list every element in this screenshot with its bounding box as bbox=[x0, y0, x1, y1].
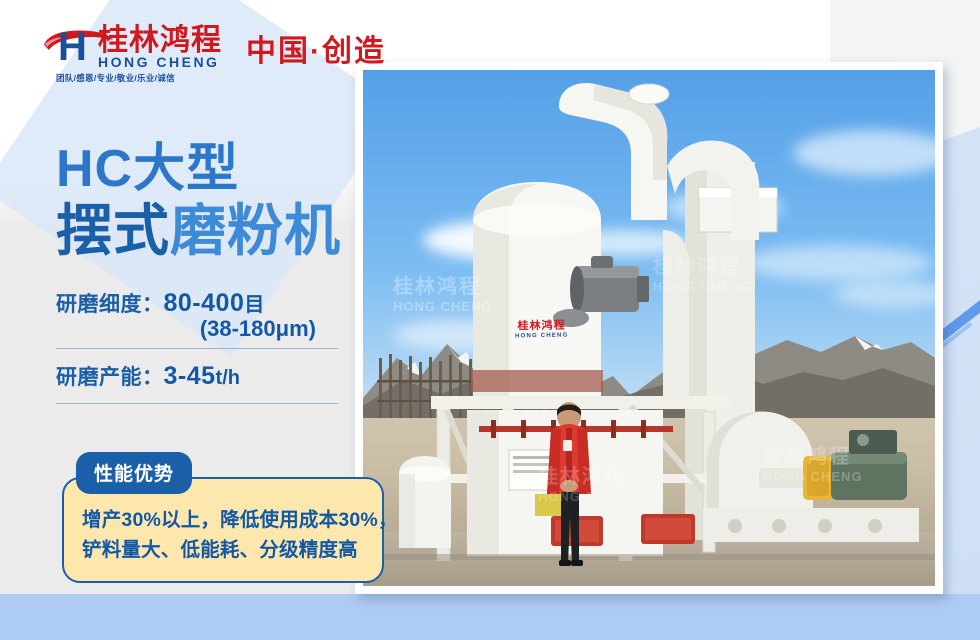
machine-brand-plate-en: HONG CHENG bbox=[515, 332, 568, 341]
spec-fineness-sub: (38-180μm) bbox=[56, 316, 338, 342]
product-photo: 桂林鸿程 HONG CHENG 桂林鸿程 HONG CHENG bbox=[363, 70, 935, 586]
headline-line-2: 摆式磨粉机 bbox=[56, 198, 400, 264]
product-photo-frame: 桂林鸿程 HONG CHENG 桂林鸿程 HONG CHENG bbox=[355, 62, 943, 594]
headline-line-2-part-1: 摆式 bbox=[56, 199, 170, 262]
performance-advantage-line-1: 增产30%以上，降低使用成本30%， bbox=[82, 505, 366, 535]
photo-grinding-mill bbox=[363, 70, 935, 586]
performance-advantage-box: 性能优势 增产30%以上，降低使用成本30%， 铲料量大、低能耗、分级精度高 bbox=[62, 452, 384, 583]
spec-capacity-value: 3-45 bbox=[164, 362, 216, 390]
logo-mark: H 桂林鸿程 HONG CHENG bbox=[42, 25, 202, 71]
header: H 桂林鸿程 HONG CHENG 团队/感恩/专业/敬业/乐业/诚信 中国·创… bbox=[0, 0, 980, 96]
headline-line-1: HC大型 bbox=[56, 140, 400, 198]
logo-english-name: HONG CHENG bbox=[98, 55, 219, 69]
spec-fineness: 研磨细度：80-400目 (38-180μm) bbox=[56, 284, 338, 348]
company-logo: H 桂林鸿程 HONG CHENG 团队/感恩/专业/敬业/乐业/诚信 bbox=[42, 25, 202, 71]
spec-fineness-label: 研磨细度： bbox=[56, 293, 164, 316]
spec-fineness-unit: 目 bbox=[244, 294, 264, 316]
spec-capacity: 研磨产能：3-45t/h bbox=[56, 349, 338, 403]
background-bottom-band bbox=[0, 594, 980, 640]
logo-tagline: 团队/感恩/专业/敬业/乐业/诚信 bbox=[56, 73, 175, 84]
photo-worker bbox=[539, 398, 599, 566]
promotional-banner: H 桂林鸿程 HONG CHENG 团队/感恩/专业/敬业/乐业/诚信 中国·创… bbox=[0, 0, 980, 640]
spec-capacity-label: 研磨产能： bbox=[56, 366, 164, 389]
brand-slogan: 中国·创造 bbox=[246, 26, 386, 70]
spec-fineness-value: 80-400 bbox=[164, 289, 245, 317]
spec-capacity-unit: t/h bbox=[216, 367, 240, 389]
spec-divider-2 bbox=[56, 403, 338, 404]
machine-brand-plate-cn: 桂林鸿程 bbox=[515, 320, 569, 333]
headline-line-2-part-2: 磨粉机 bbox=[170, 199, 341, 262]
logo-chinese-name: 桂林鸿程 bbox=[98, 25, 222, 57]
spec-list: 研磨细度：80-400目 (38-180μm) 研磨产能：3-45t/h bbox=[56, 284, 338, 404]
machine-brand-plate: 桂林鸿程 HONG CHENG bbox=[515, 320, 569, 341]
performance-advantage-tab: 性能优势 bbox=[76, 452, 192, 494]
performance-advantage-line-2: 铲料量大、低能耗、分级精度高 bbox=[82, 535, 366, 565]
logo-letter-h: H bbox=[58, 27, 86, 67]
